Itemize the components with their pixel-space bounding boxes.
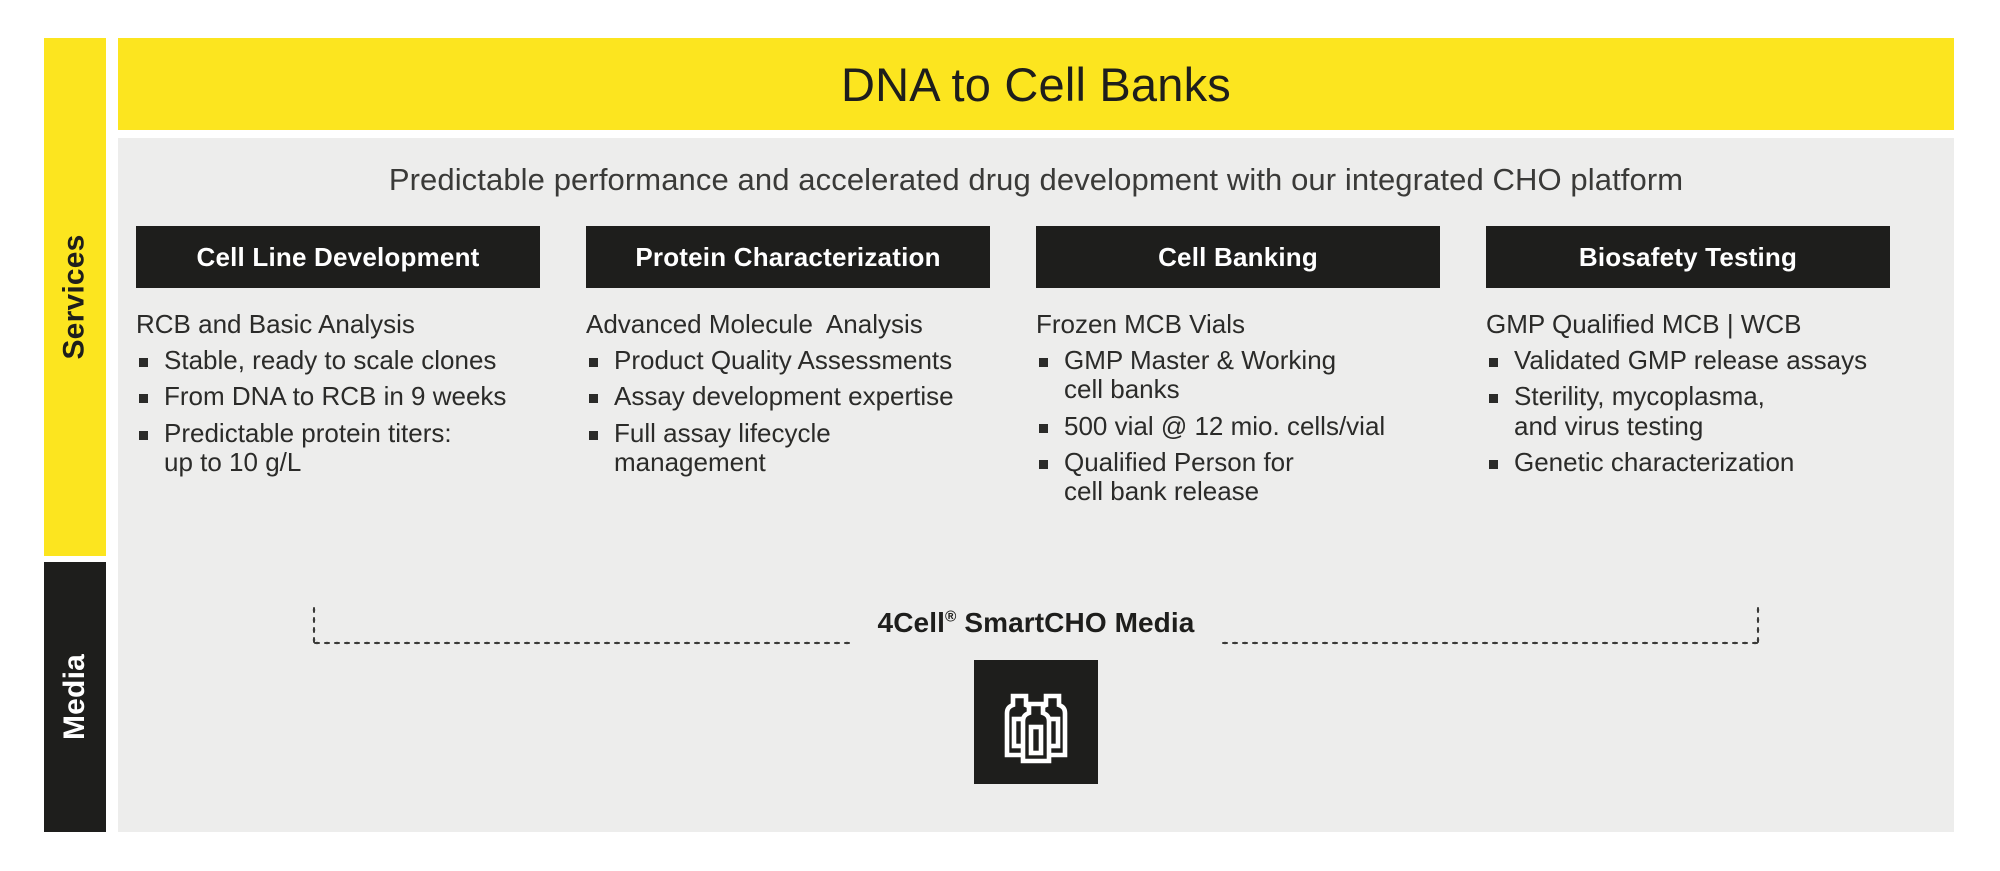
title-band: DNA to Cell Banks (118, 38, 1954, 130)
bullet-square-icon (1489, 358, 1498, 367)
bullet-square-icon (1489, 394, 1498, 403)
list-item: Validated GMP release assays (1486, 346, 1890, 375)
bullet-line-1: GMP Master & Working (1064, 345, 1336, 375)
list-item: Sterility, mycoplasma, and virus testing (1486, 382, 1890, 440)
media-bottles-icon-svg (993, 679, 1079, 765)
service-column-protein-characterization: Protein Characterization Advanced Molecu… (586, 226, 990, 506)
bullet-square-icon (139, 394, 148, 403)
list-item: Predictable protein titers: up to 10 g/L (136, 419, 540, 477)
bullet-square-icon (139, 358, 148, 367)
bullet-line-2: up to 10 g/L (164, 448, 540, 477)
bullet-square-icon (1489, 460, 1498, 469)
bullet-square-icon (1039, 460, 1048, 469)
media-bottles-icon (974, 660, 1098, 784)
sidebar-tab-services-label: Services (58, 234, 92, 359)
bullet-line-2: cell banks (1064, 375, 1440, 404)
dotted-connector-right (1220, 601, 1760, 645)
service-column-cell-banking: Cell Banking Frozen MCB Vials GMP Master… (1036, 226, 1440, 506)
column-header-3-label: Cell Banking (1158, 242, 1318, 273)
column-header-4[interactable]: Biosafety Testing (1486, 226, 1890, 288)
subtitle: Predictable performance and accelerated … (118, 162, 1954, 198)
slide-root: Services Media DNA to Cell Banks Predict… (0, 0, 2000, 871)
list-item: Full assay lifecycle management (586, 419, 990, 477)
bullet-line-1: From DNA to RCB in 9 weeks (164, 381, 506, 411)
bullet-line-1: Validated GMP release assays (1514, 345, 1867, 375)
service-column-biosafety-testing: Biosafety Testing GMP Qualified MCB | WC… (1486, 226, 1890, 506)
list-item: Qualified Person for cell bank release (1036, 448, 1440, 506)
media-product-label: 4Cell® SmartCHO Media (852, 607, 1221, 639)
list-item: Assay development expertise (586, 382, 990, 411)
column-header-2-label: Protein Characterization (635, 242, 940, 273)
sidebar-tab-media[interactable]: Media (44, 562, 106, 832)
column-lead-3: Frozen MCB Vials (1036, 310, 1440, 339)
list-item: Product Quality Assessments (586, 346, 990, 375)
list-item: 500 vial @ 12 mio. cells/vial (1036, 412, 1440, 441)
content-panel: Predictable performance and accelerated … (118, 138, 1954, 832)
dotted-tick-left (312, 605, 316, 645)
dotted-line-left (312, 641, 852, 645)
dotted-line-right (1220, 641, 1760, 645)
bullet-line-2: cell bank release (1064, 477, 1440, 506)
column-lead-4: GMP Qualified MCB | WCB (1486, 310, 1890, 339)
sidebar-tab-services[interactable]: Services (44, 38, 106, 556)
bullet-line-1: Qualified Person for (1064, 447, 1294, 477)
list-item: From DNA to RCB in 9 weeks (136, 382, 540, 411)
bullet-square-icon (589, 431, 598, 440)
bullet-line-1: Sterility, mycoplasma, (1514, 381, 1765, 411)
page-title: DNA to Cell Banks (841, 57, 1231, 112)
bullet-line-1: Predictable protein titers: (164, 418, 452, 448)
list-item: Genetic characterization (1486, 448, 1890, 477)
bullet-square-icon (1039, 424, 1048, 433)
column-bullets-2: Product Quality Assessments Assay develo… (586, 346, 990, 476)
column-header-4-label: Biosafety Testing (1579, 242, 1797, 273)
column-lead-2: Advanced Molecule Analysis (586, 310, 990, 339)
bullet-line-1: Assay development expertise (614, 381, 954, 411)
column-header-1[interactable]: Cell Line Development (136, 226, 540, 288)
list-item: Stable, ready to scale clones (136, 346, 540, 375)
media-product-suffix: SmartCHO Media (956, 607, 1194, 638)
dotted-tick-right (1756, 605, 1760, 645)
bullet-line-1: Stable, ready to scale clones (164, 345, 496, 375)
media-product-name: 4Cell (878, 607, 945, 638)
dotted-connector-left (312, 601, 852, 645)
bullet-line-1: Product Quality Assessments (614, 345, 952, 375)
column-bullets-3: GMP Master & Working cell banks 500 vial… (1036, 346, 1440, 506)
column-lead-1: RCB and Basic Analysis (136, 310, 540, 339)
bullet-square-icon (1039, 358, 1048, 367)
bullet-square-icon (589, 358, 598, 367)
registered-mark-icon: ® (945, 609, 956, 626)
bullet-line-1: 500 vial @ 12 mio. cells/vial (1064, 411, 1385, 441)
column-header-1-label: Cell Line Development (196, 242, 479, 273)
bullet-line-2: and virus testing (1514, 412, 1890, 441)
bullet-line-1: Full assay lifecycle (614, 418, 831, 448)
column-bullets-1: Stable, ready to scale clones From DNA t… (136, 346, 540, 476)
service-columns: Cell Line Development RCB and Basic Anal… (136, 226, 1936, 506)
column-bullets-4: Validated GMP release assays Sterility, … (1486, 346, 1890, 476)
bullet-square-icon (589, 394, 598, 403)
bullet-square-icon (139, 431, 148, 440)
list-item: GMP Master & Working cell banks (1036, 346, 1440, 404)
bullet-line-2: management (614, 448, 990, 477)
bullet-line-1: Genetic characterization (1514, 447, 1794, 477)
media-band: 4Cell® SmartCHO Media (118, 593, 1954, 653)
column-header-3[interactable]: Cell Banking (1036, 226, 1440, 288)
column-header-2[interactable]: Protein Characterization (586, 226, 990, 288)
sidebar-tab-media-label: Media (58, 654, 92, 740)
service-column-cell-line-development: Cell Line Development RCB and Basic Anal… (136, 226, 540, 506)
